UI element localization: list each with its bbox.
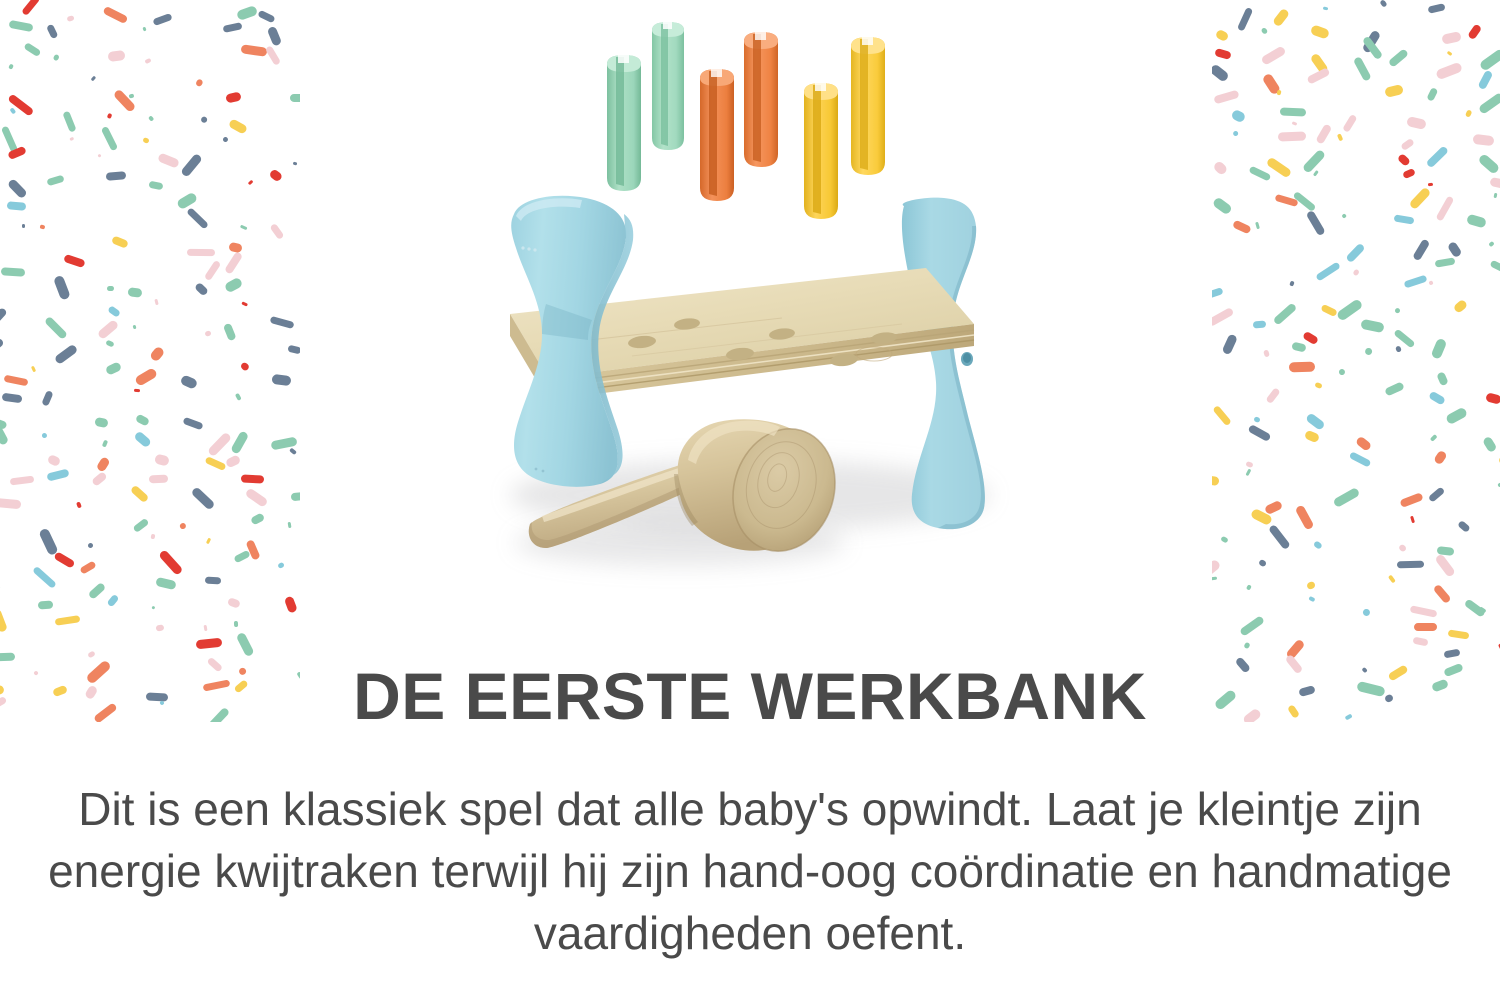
confetti-dash (39, 527, 59, 556)
confetti-dash (22, 224, 25, 228)
confetti-dash (1384, 84, 1403, 97)
confetti-dash (97, 153, 102, 158)
peg-orange-1 (696, 62, 740, 206)
confetti-dash (158, 549, 183, 575)
confetti-dash (1481, 436, 1497, 454)
confetti-dash (1212, 159, 1228, 175)
confetti-dash (236, 5, 258, 21)
confetti-dash (1441, 31, 1461, 44)
confetti-dash (1315, 261, 1341, 281)
confetti-dash (224, 251, 243, 275)
confetti-dash (194, 282, 209, 296)
confetti-dash (225, 455, 241, 469)
confetti-dash (54, 343, 78, 364)
peg-orange-2 (740, 26, 784, 174)
confetti-dash (154, 454, 169, 467)
confetti-dash (267, 26, 282, 47)
confetti-dash (1264, 500, 1283, 515)
confetti-dash (1429, 280, 1434, 285)
confetti-dash (1243, 642, 1250, 650)
confetti-dash (130, 485, 150, 504)
confetti-dash (46, 174, 64, 185)
confetti-dash (1473, 134, 1494, 146)
confetti-dash (44, 316, 68, 340)
confetti-dash (1337, 133, 1343, 140)
confetti-dash (1306, 581, 1316, 591)
confetti-dash (288, 521, 292, 527)
peg-yellow-1 (800, 76, 844, 224)
confetti-dash (204, 260, 221, 281)
confetti-dash (195, 79, 204, 88)
confetti-dash (179, 522, 188, 531)
confetti-dash (1280, 108, 1306, 117)
confetti-dash (1306, 210, 1326, 236)
confetti-dash (240, 361, 250, 371)
confetti-dash (235, 392, 241, 400)
confetti-dash (1345, 242, 1365, 263)
confetti-dash (54, 274, 72, 300)
confetti-band-left (0, 0, 300, 722)
confetti-dash (1397, 561, 1424, 568)
confetti-dash (1400, 138, 1415, 151)
confetti-dash (1479, 48, 1500, 71)
confetti-dash (1349, 451, 1372, 468)
confetti-dash (1245, 461, 1253, 468)
confetti-dash (1402, 168, 1416, 180)
confetti-dash (1444, 648, 1461, 658)
confetti-dash (157, 153, 180, 169)
confetti-dash (1291, 121, 1297, 126)
confetti-dash (62, 111, 76, 133)
confetti-dash (0, 583, 2, 603)
confetti-dash (1341, 213, 1346, 218)
confetti-dash (250, 512, 265, 525)
confetti-dash (240, 44, 267, 57)
confetti-dash (1263, 349, 1269, 357)
confetti-dash (135, 413, 150, 426)
confetti-dash (271, 374, 291, 386)
confetti-dash (265, 45, 281, 66)
confetti-dash (205, 576, 222, 584)
confetti-dash (1428, 486, 1446, 502)
confetti-dash (1260, 45, 1286, 66)
confetti-dash (145, 57, 152, 63)
confetti-dash (1457, 520, 1471, 533)
confetti-dash (187, 249, 215, 256)
confetti-dash (1276, 89, 1281, 95)
confetti-dash (1220, 535, 1228, 543)
confetti-dash (277, 562, 284, 569)
confetti-dash (97, 319, 120, 340)
confetti-dash (235, 632, 254, 658)
confetti-dash (107, 305, 121, 318)
confetti-dash (201, 117, 208, 124)
confetti-dash (113, 89, 137, 113)
confetti-dash (87, 542, 93, 548)
confetti-dash (1493, 193, 1497, 198)
confetti-dash (1302, 149, 1326, 174)
confetti-dash (1410, 516, 1415, 523)
confetti-dash (1432, 584, 1451, 605)
confetti-dash (91, 472, 108, 488)
confetti-dash (1379, 0, 1387, 8)
confetti-dash (1384, 381, 1404, 396)
confetti-dash (79, 560, 97, 574)
confetti-dash (1268, 524, 1291, 550)
confetti-dash (45, 24, 58, 40)
confetti-dash (233, 550, 251, 564)
confetti-dash (223, 137, 228, 142)
confetti-dash (69, 137, 74, 142)
confetti-dash (1360, 318, 1385, 332)
confetti-dash (1336, 298, 1364, 321)
confetti-dash (1452, 299, 1467, 314)
confetti-dash (1433, 450, 1448, 466)
confetti-dash (8, 63, 13, 69)
confetti-dash (42, 433, 47, 439)
confetti-dash (1289, 281, 1294, 287)
confetti-dash (1239, 615, 1265, 636)
confetti-dash (7, 177, 28, 198)
confetti-dash (1394, 214, 1415, 224)
confetti-dash (1397, 153, 1411, 167)
confetti-dash (54, 616, 79, 626)
confetti-dash (142, 137, 150, 144)
confetti-dash (106, 171, 126, 181)
confetti-dash (1212, 475, 1220, 486)
confetti-dash (269, 316, 294, 330)
confetti-dash (53, 552, 75, 569)
confetti-dash (76, 501, 82, 508)
product-photo (300, 0, 1212, 660)
confetti-dash (151, 534, 156, 539)
confetti-dash (1289, 362, 1315, 372)
confetti-dash (149, 474, 168, 482)
confetti-dash (1212, 196, 1233, 215)
confetti-dash (1428, 390, 1446, 405)
confetti-dash (10, 475, 35, 485)
confetti-dash (1448, 629, 1470, 640)
confetti-dash (1306, 413, 1326, 431)
confetti-dash (153, 13, 173, 26)
confetti-dash (293, 162, 297, 166)
confetti-dash (1364, 346, 1374, 355)
confetti-dash (225, 91, 241, 103)
confetti-dash (240, 224, 247, 229)
confetti-dash (290, 94, 300, 102)
confetti-dash (33, 566, 58, 589)
confetti-dash (1362, 608, 1372, 618)
confetti-dash (284, 595, 298, 613)
confetti-dash (106, 113, 112, 119)
confetti-dash (156, 577, 177, 590)
confetti-dash (245, 539, 260, 561)
confetti-dash (1215, 28, 1230, 42)
confetti-dash (1339, 368, 1347, 376)
confetti-dash (180, 374, 198, 389)
wooden-mallet (518, 412, 878, 572)
confetti-dash (1436, 371, 1448, 386)
confetti-dash (132, 517, 149, 532)
confetti-dash (1260, 27, 1268, 35)
confetti-dash (289, 448, 297, 455)
confetti-dash (7, 201, 26, 210)
peg-yellow-2 (846, 30, 892, 182)
confetti-dash (1, 392, 22, 403)
confetti-dash (270, 223, 285, 240)
confetti-dash (234, 621, 238, 627)
confetti-dash (1304, 429, 1321, 443)
confetti-dash (207, 432, 232, 457)
confetti-dash (222, 322, 236, 341)
description-text: Dit is een klassiek spel dat alle baby's… (30, 778, 1470, 964)
confetti-dash (271, 437, 298, 450)
confetti-dash (1230, 109, 1246, 123)
confetti-dash (1265, 387, 1281, 404)
confetti-dash (8, 19, 33, 32)
confetti-dash (1477, 153, 1500, 175)
confetti-dash (228, 118, 248, 134)
confetti-dash (224, 276, 244, 293)
confetti-dash (1315, 123, 1332, 144)
confetti-dash (66, 15, 74, 21)
confetti-dash (96, 456, 111, 472)
confetti-dash (88, 582, 106, 600)
confetti-dash (22, 0, 41, 16)
confetti-dash (287, 345, 300, 354)
confetti-dash (206, 537, 212, 544)
bench-screw-hole (956, 348, 978, 370)
confetti-dash (1435, 195, 1454, 221)
confetti-dash (1278, 131, 1306, 141)
confetti-dash (1221, 334, 1238, 356)
confetti-dash (1446, 51, 1452, 57)
confetti-dash (1428, 3, 1446, 13)
confetti-dash (247, 180, 253, 186)
confetti-dash (128, 287, 143, 297)
confetti-dash (1355, 436, 1372, 452)
confetti-dash (149, 345, 165, 362)
peg-mint-2 (648, 16, 690, 156)
confetti-dash (1253, 416, 1260, 423)
confetti-dash (1444, 407, 1467, 425)
confetti-dash (1353, 269, 1360, 277)
confetti-dash (134, 388, 140, 392)
confetti-dash (1397, 544, 1406, 553)
confetti-dash (1478, 93, 1500, 116)
confetti-dash (1490, 177, 1500, 191)
confetti-dash (47, 454, 62, 467)
confetti-dash (1212, 63, 1229, 82)
peg-mint-1 (602, 48, 648, 198)
confetti-dash (1399, 492, 1424, 508)
confetti-dash (1313, 170, 1319, 176)
confetti-dash (0, 338, 4, 355)
confetti-dash (1342, 114, 1357, 133)
confetti-dash (52, 53, 59, 61)
confetti-dash (1485, 393, 1500, 406)
confetti-dash (133, 431, 152, 449)
confetti-dash (23, 42, 41, 57)
confetti-dash (1214, 48, 1232, 60)
confetti-dash (0, 517, 1, 536)
confetti-dash (1406, 116, 1427, 130)
confetti-dash (148, 115, 154, 121)
confetti-dash (1273, 303, 1298, 326)
confetti-dash (3, 375, 28, 387)
confetti-dash (196, 638, 223, 650)
confetti-dash (190, 486, 215, 510)
confetti-dash (9, 107, 16, 114)
confetti-dash (1320, 304, 1338, 318)
confetti-dash (134, 367, 158, 386)
confetti-dash (1308, 596, 1315, 602)
confetti-dash (1255, 222, 1260, 229)
confetti-dash (1246, 585, 1252, 591)
confetti-dash (1310, 24, 1330, 39)
confetti-dash (186, 207, 209, 230)
confetti-dash (1426, 145, 1449, 168)
confetti-dash (1409, 605, 1437, 618)
confetti-dash (129, 93, 135, 98)
confetti-dash (1412, 238, 1430, 261)
confetti-dash (1258, 558, 1267, 567)
confetti-dash (1467, 23, 1482, 40)
confetti-dash (1248, 424, 1272, 442)
confetti-dash (230, 430, 249, 454)
confetti-dash (1394, 307, 1401, 314)
confetti-dash (1489, 260, 1500, 276)
confetti-dash (1387, 48, 1408, 68)
confetti-dash (104, 361, 121, 376)
confetti-dash (148, 181, 163, 190)
confetti-dash (0, 498, 21, 510)
confetti-dash (1252, 320, 1265, 328)
confetti-dash (1237, 8, 1253, 32)
confetti-dash (1395, 346, 1402, 354)
confetti-dash (1313, 540, 1323, 549)
confetti-dash (1408, 187, 1431, 210)
confetti-dash (1212, 306, 1234, 326)
confetti-dash (258, 9, 276, 22)
confetti-dash (227, 597, 241, 608)
page-title: DE EERSTE WERKBANK (0, 658, 1500, 734)
confetti-dash (47, 468, 71, 481)
confetti-dash (0, 307, 7, 327)
confetti-dash (40, 224, 46, 229)
confetti-dash (1488, 241, 1494, 247)
confetti-dash (107, 286, 114, 291)
confetti-dash (1414, 623, 1437, 631)
confetti-dash (223, 22, 243, 33)
confetti-dash (1427, 87, 1439, 102)
confetti-dash (1302, 330, 1319, 345)
confetti-dash (268, 168, 283, 182)
confetti-dash (1404, 274, 1428, 288)
confetti-dash (1430, 434, 1437, 441)
confetti-dash (1413, 636, 1429, 646)
confetti-dash (1272, 8, 1290, 28)
confetti-dash (1, 267, 25, 276)
confetti-dash (1434, 553, 1456, 578)
confetti-dash (64, 253, 86, 267)
promo-card: DE EERSTE WERKBANK Dit is een klassiek s… (0, 0, 1500, 1000)
confetti-dash (1477, 69, 1493, 89)
confetti-dash (182, 417, 203, 431)
confetti-dash (176, 192, 198, 210)
confetti-dash (204, 331, 211, 337)
confetti-dash (0, 609, 7, 634)
confetti-dash (152, 606, 156, 610)
confetti-dash (132, 324, 136, 328)
confetti-dash (244, 488, 268, 508)
confetti-dash (203, 625, 207, 631)
confetti-band-right (1212, 0, 1500, 722)
confetti-dash (1245, 469, 1251, 476)
confetti-dash (1212, 405, 1231, 426)
confetti-dash (143, 27, 147, 32)
confetti-dash (241, 301, 247, 306)
confetti-dash (1435, 61, 1463, 79)
confetti-dash (1431, 338, 1448, 360)
confetti-dash (228, 241, 242, 253)
confetti-dash (204, 456, 226, 471)
confetti-dash (1295, 505, 1315, 531)
confetti-dash (1212, 576, 1217, 580)
confetti-dash (241, 475, 265, 484)
confetti-dash (105, 339, 114, 347)
confetti-dash (95, 417, 109, 428)
confetti-dash (1354, 56, 1373, 82)
confetti-dash (154, 299, 158, 305)
confetti-dash (1232, 219, 1251, 233)
confetti-dash (1435, 257, 1456, 267)
confetti-dash (156, 625, 165, 632)
confetti-dash (111, 235, 128, 248)
confetti-dash (106, 594, 119, 608)
confetti-dash (1428, 182, 1434, 186)
confetti-dash (1248, 166, 1270, 181)
confetti-dash (1212, 287, 1223, 299)
confetti-dash (1333, 486, 1361, 507)
confetti-dash (101, 126, 118, 151)
confetti-dash (1314, 382, 1323, 389)
confetti-dash (1291, 341, 1306, 352)
confetti-dash (41, 391, 53, 407)
confetti-dash (1231, 130, 1238, 137)
confetti-dash (1466, 214, 1487, 229)
confetti-dash (180, 153, 203, 178)
confetti-dash (1388, 574, 1396, 583)
confetti-dash (291, 491, 300, 502)
confetti-dash (1214, 90, 1240, 105)
confetti-dash (1447, 241, 1463, 259)
confetti-dash (102, 439, 108, 447)
confetti-dash (1323, 7, 1329, 11)
confetti-dash (1465, 109, 1472, 118)
confetti-dash (31, 366, 36, 373)
confetti-dash (108, 50, 126, 62)
confetti-dash (90, 76, 96, 82)
confetti-dash (103, 6, 129, 24)
confetti-dash (38, 600, 54, 609)
